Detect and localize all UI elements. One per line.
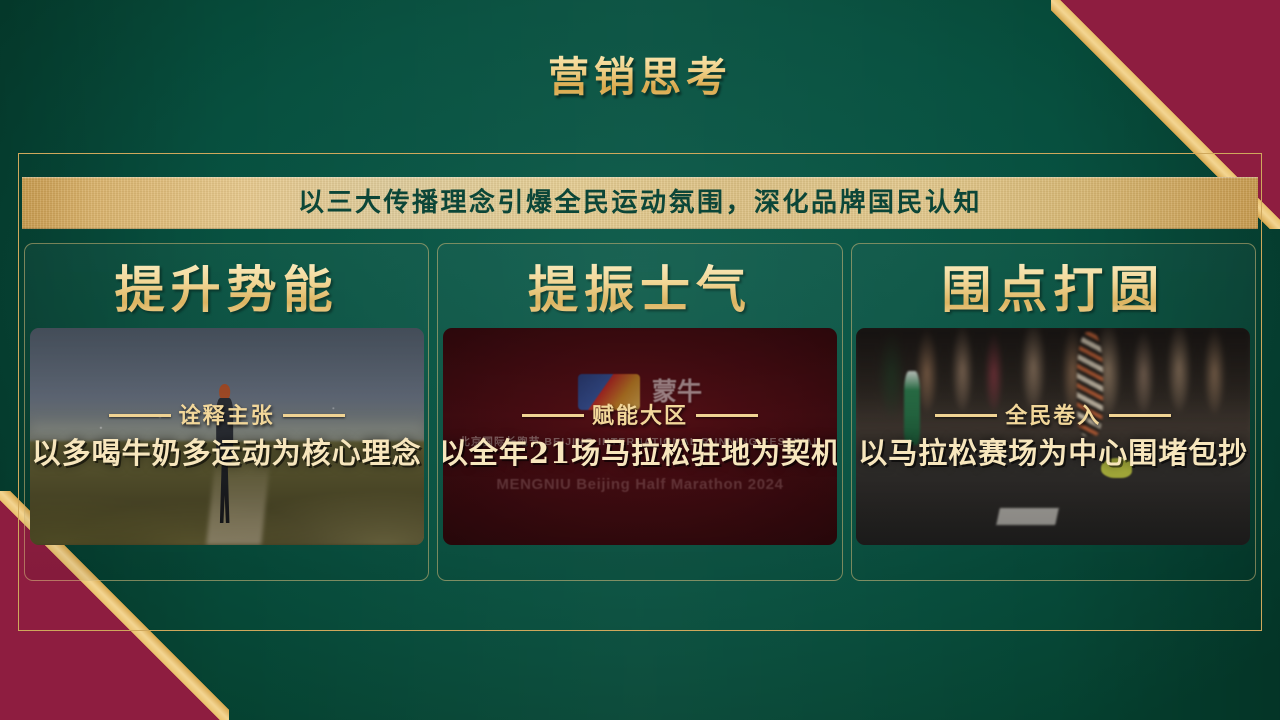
rule-right-icon — [696, 414, 758, 417]
rule-right-icon — [283, 414, 345, 417]
column-card-3[interactable]: 围点打圆 全民卷入 以马拉松赛场为中心围堵 — [851, 243, 1256, 581]
card-overlay-2: 赋能大区 以全年21场马拉松驻地为契机 — [443, 328, 837, 545]
card-overlay-1: 诠释主张 以多喝牛奶多运动为核心理念 — [30, 328, 424, 545]
card-kicker-3: 全民卷入 — [935, 403, 1171, 429]
card-kicker-2: 赋能大区 — [522, 403, 758, 429]
columns-row: 提升势能 诠释主张 — [24, 243, 1256, 581]
slide-canvas: 营销思考 以三大传播理念引爆全民运动氛围，深化品牌国民认知 提升势能 — [0, 0, 1280, 720]
headline-banner-text: 以三大传播理念引爆全民运动氛围，深化品牌国民认知 — [298, 188, 982, 218]
headline-banner: 以三大传播理念引爆全民运动氛围，深化品牌国民认知 — [22, 177, 1258, 229]
card-kicker-text-2: 赋能大区 — [592, 403, 688, 429]
card-overlay-3: 全民卷入 以马拉松赛场为中心围堵包抄 — [856, 328, 1250, 545]
card-headline-2: 以全年21场马拉松驻地为契机 — [443, 435, 837, 471]
column-image-card-1[interactable]: 诠释主张 以多喝牛奶多运动为核心理念 — [30, 328, 424, 545]
rule-right-icon — [1109, 414, 1171, 417]
card-kicker-text-3: 全民卷入 — [1005, 403, 1101, 429]
column-title-3: 围点打圆 — [941, 259, 1165, 321]
column-title-1: 提升势能 — [115, 259, 339, 321]
column-card-2[interactable]: 提振士气 蒙牛 北京国际长跑节 BEIJING INTERNATIONAL RU… — [437, 243, 842, 581]
column-image-card-2[interactable]: 蒙牛 北京国际长跑节 BEIJING INTERNATIONAL RUNNING… — [443, 328, 837, 545]
rule-left-icon — [935, 414, 997, 417]
card-kicker-1: 诠释主张 — [109, 403, 345, 429]
card-kicker-text-1: 诠释主张 — [179, 403, 275, 429]
column-image-card-3[interactable]: 全民卷入 以马拉松赛场为中心围堵包抄 — [856, 328, 1250, 545]
card-headline-1: 以多喝牛奶多运动为核心理念 — [32, 435, 422, 471]
rule-left-icon — [109, 414, 171, 417]
page-title: 营销思考 — [0, 52, 1280, 102]
rule-left-icon — [522, 414, 584, 417]
card-headline-3: 以马拉松赛场为中心围堵包抄 — [858, 435, 1248, 471]
column-title-2: 提振士气 — [528, 259, 752, 321]
column-card-1[interactable]: 提升势能 诠释主张 — [24, 243, 429, 581]
